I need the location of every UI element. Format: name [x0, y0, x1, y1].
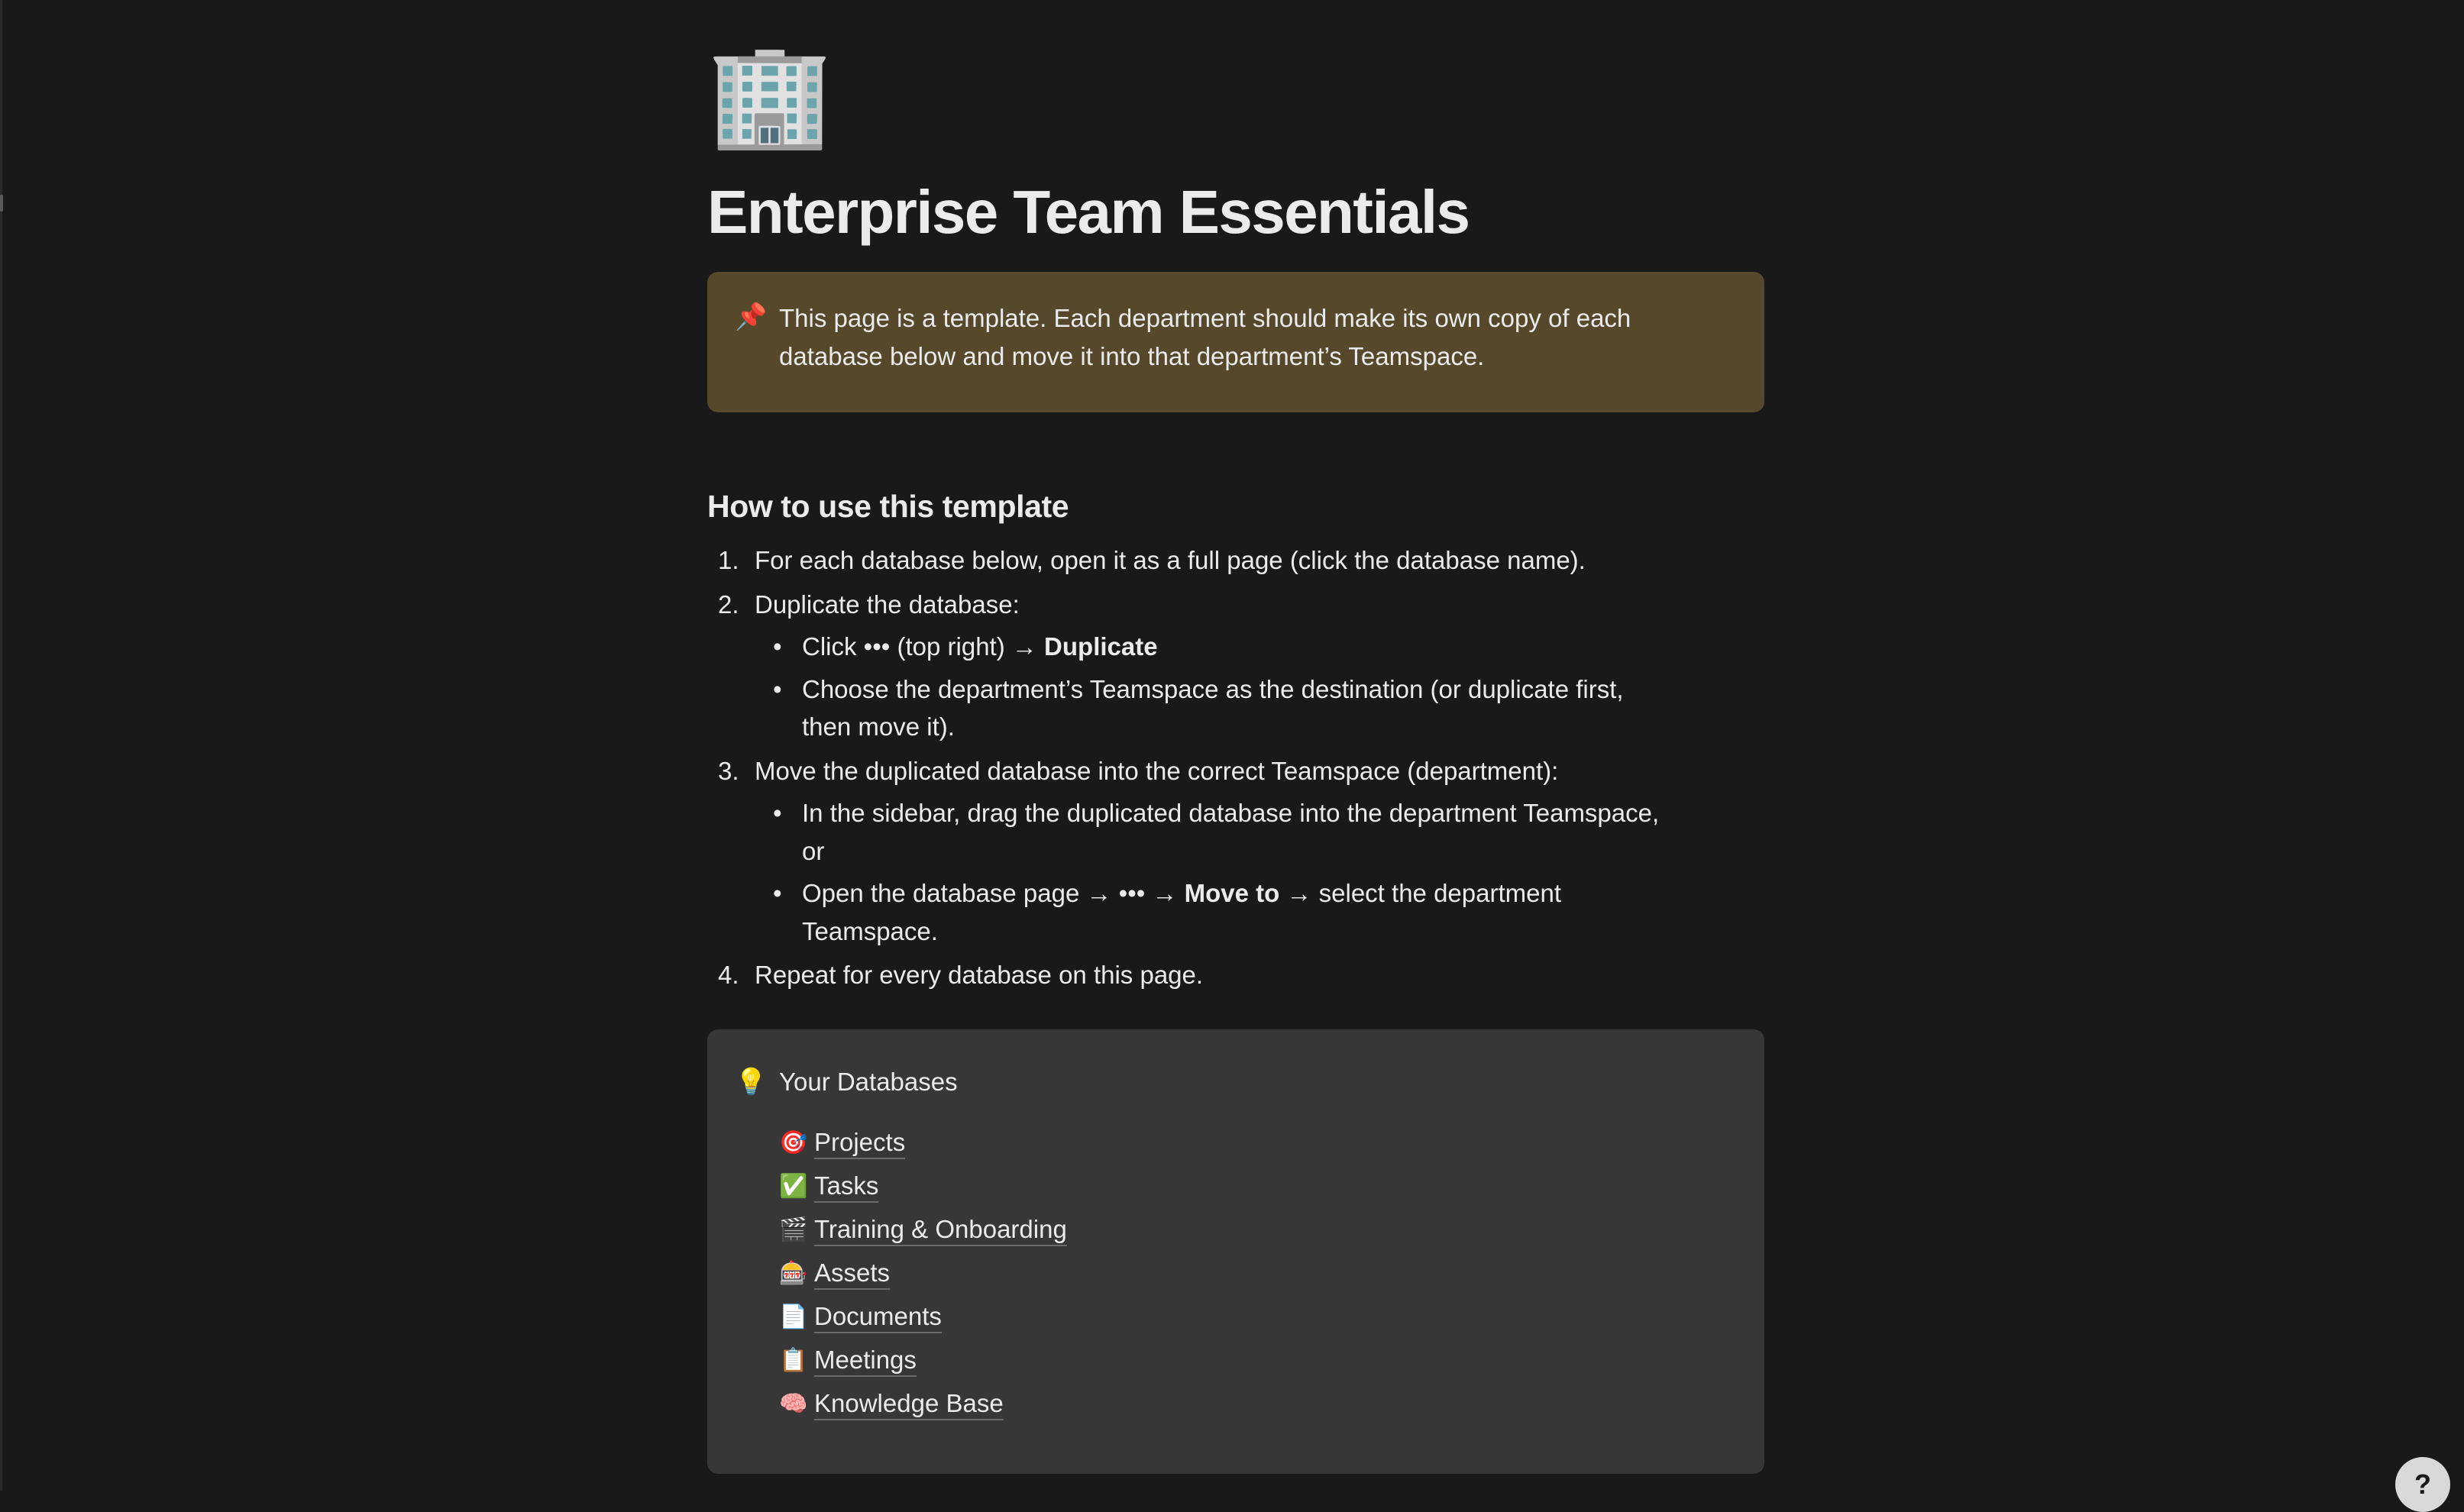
- help-button[interactable]: ?: [2395, 1457, 2450, 1512]
- databases-title: Your Databases: [779, 1063, 958, 1101]
- how-to-substep: •Click ••• (top right) → Duplicate: [755, 628, 1671, 666]
- how-to-substep: •Open the database page → ••• → Move to …: [755, 874, 1671, 950]
- template-notice-text: This page is a template. Each department…: [779, 298, 1635, 376]
- clipboard-emoji: 📋: [779, 1349, 814, 1372]
- page-icon-office-building-emoji[interactable]: 🏢: [707, 44, 1764, 174]
- step-text: Duplicate the database:: [755, 590, 1020, 619]
- databases-title-row: 💡 Your Databases: [735, 1063, 958, 1102]
- how-to-substep: •Choose the department’s Teamspace as th…: [755, 670, 1671, 746]
- database-link[interactable]: Projects: [814, 1126, 905, 1159]
- step-number: 3.: [718, 752, 749, 790]
- step-number: 2.: [718, 586, 749, 624]
- substep-text: Choose the department’s Teamspace as the…: [802, 675, 1624, 741]
- step-number: 1.: [718, 541, 749, 580]
- brain-emoji: 🧠: [779, 1393, 814, 1416]
- substep-text: Open the database page → ••• →: [802, 879, 1185, 907]
- light-bulb-icon: 💡: [735, 1063, 779, 1102]
- database-link[interactable]: Tasks: [814, 1170, 878, 1203]
- direct-hit-emoji: 🎯: [779, 1132, 814, 1155]
- bullet-icon: •: [773, 794, 782, 832]
- how-to-substeps-list: •Click ••• (top right) → Duplicate•Choos…: [755, 628, 1764, 746]
- your-databases-callout: 💡 Your Databases 🎯Projects✅Tasks🎬Trainin…: [707, 1029, 1764, 1474]
- how-to-step: 1.For each database below, open it as a …: [707, 541, 1764, 580]
- check-mark-button-emoji: ✅: [779, 1175, 814, 1198]
- pushpin-icon: 📌: [735, 298, 779, 337]
- clapper-board-emoji: 🎬: [779, 1219, 814, 1242]
- database-list-item[interactable]: 🎬Training & Onboarding: [779, 1213, 1067, 1247]
- how-to-substep: •In the sidebar, drag the duplicated dat…: [755, 794, 1671, 870]
- page-facing-up-emoji: 📄: [779, 1306, 814, 1329]
- database-link[interactable]: Training & Onboarding: [814, 1213, 1067, 1246]
- database-list-item[interactable]: 🧠Knowledge Base: [779, 1388, 1067, 1421]
- database-link[interactable]: Assets: [814, 1257, 890, 1290]
- how-to-step: 3.Move the duplicated database into the …: [707, 752, 1764, 951]
- database-list-item[interactable]: 📄Documents: [779, 1300, 1067, 1334]
- database-list-item[interactable]: 📋Meetings: [779, 1344, 1067, 1378]
- database-list-item[interactable]: ✅Tasks: [779, 1170, 1067, 1203]
- slot-machine-emoji: 🎰: [779, 1262, 814, 1285]
- sidebar-collapse-rail[interactable]: [0, 0, 2, 1491]
- database-link[interactable]: Meetings: [814, 1344, 917, 1377]
- step-text: For each database below, open it as a fu…: [755, 546, 1586, 574]
- how-to-step: 2.Duplicate the database:•Click ••• (top…: [707, 586, 1764, 746]
- database-link[interactable]: Knowledge Base: [814, 1388, 1004, 1420]
- substep-text: In the sidebar, drag the duplicated data…: [802, 799, 1659, 865]
- sidebar-resize-handle[interactable]: [0, 195, 3, 212]
- step-text: Repeat for every database on this page.: [755, 961, 1203, 989]
- bullet-icon: •: [773, 670, 782, 709]
- bullet-icon: •: [773, 874, 782, 913]
- substep-emphasis: Move to: [1185, 879, 1280, 907]
- database-links-list: 🎯Projects✅Tasks🎬Training & Onboarding🎰As…: [735, 1126, 1067, 1431]
- step-number: 4.: [718, 956, 749, 994]
- how-to-steps-list: 1.For each database below, open it as a …: [707, 541, 1764, 994]
- database-list-item[interactable]: 🎰Assets: [779, 1257, 1067, 1291]
- step-text: Move the duplicated database into the co…: [755, 757, 1558, 785]
- database-list-item[interactable]: 🎯Projects: [779, 1126, 1067, 1160]
- page-content: 🏢 Enterprise Team Essentials 📌 This page…: [707, 0, 1764, 1474]
- how-to-substeps-list: •In the sidebar, drag the duplicated dat…: [755, 794, 1764, 950]
- database-link[interactable]: Documents: [814, 1300, 942, 1333]
- page-title[interactable]: Enterprise Team Essentials: [707, 180, 1764, 244]
- substep-emphasis: Duplicate: [1044, 632, 1158, 661]
- how-to-heading: How to use this template: [707, 489, 1764, 525]
- bullet-icon: •: [773, 628, 782, 666]
- how-to-step: 4.Repeat for every database on this page…: [707, 956, 1764, 994]
- template-notice-callout: 📌 This page is a template. Each departme…: [707, 272, 1764, 412]
- substep-text: Click ••• (top right) →: [802, 632, 1044, 661]
